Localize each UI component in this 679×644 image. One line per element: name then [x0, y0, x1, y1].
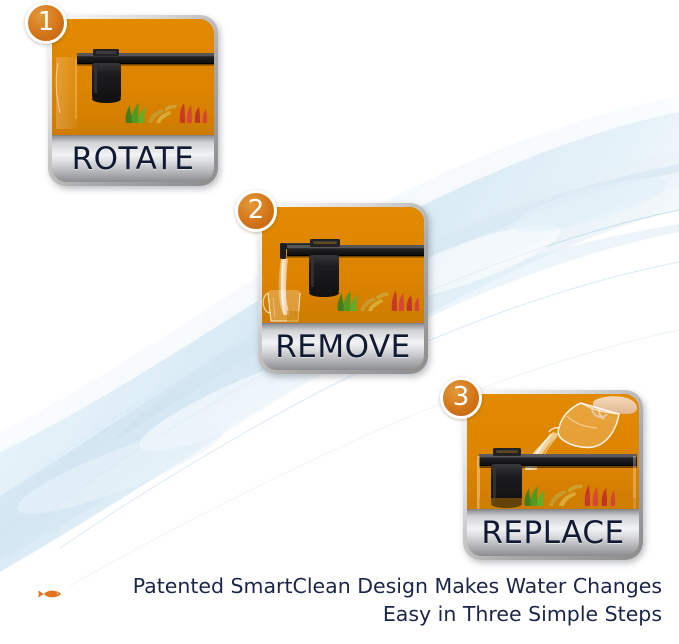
panel-frame: ROTATE — [48, 15, 218, 186]
caption-block: Patented SmartClean Design Makes Water C… — [0, 567, 679, 644]
caption-text: Patented SmartClean Design Makes Water C… — [58, 572, 662, 628]
panel-frame: REMOVE — [258, 203, 428, 374]
step-number-badge: 2 — [235, 190, 277, 232]
step-panel-1[interactable]: ROTATE 1 — [48, 15, 218, 186]
panel-inner: REMOVE — [262, 207, 424, 370]
step-label-band: REMOVE — [262, 323, 424, 370]
aquarium-remove-scene — [262, 207, 424, 324]
step-label-band: ROTATE — [52, 135, 214, 182]
caption-line-2: Easy in Three Simple Steps — [58, 600, 662, 628]
fish-icon — [36, 587, 64, 601]
step-number: 1 — [38, 9, 55, 35]
aquarium-rotate-scene — [52, 19, 214, 136]
step-panel-3[interactable]: REPLACE 3 — [463, 390, 643, 560]
step-number-badge: 3 — [440, 377, 482, 419]
step-number-badge: 1 — [25, 2, 67, 44]
panel-inner: REPLACE — [467, 394, 639, 556]
step-label: REPLACE — [481, 518, 624, 549]
step-number: 2 — [248, 197, 265, 223]
panel-frame: REPLACE — [463, 390, 643, 560]
step-panel-2[interactable]: REMOVE 2 — [258, 203, 428, 374]
caption-line-1: Patented SmartClean Design Makes Water C… — [58, 572, 662, 600]
panel-inner: ROTATE — [52, 19, 214, 182]
aquarium-replace-scene — [467, 394, 639, 510]
step-label-band: REPLACE — [467, 509, 639, 556]
step-number: 3 — [453, 384, 470, 410]
step-label: REMOVE — [275, 332, 411, 363]
step-label: ROTATE — [72, 144, 195, 175]
